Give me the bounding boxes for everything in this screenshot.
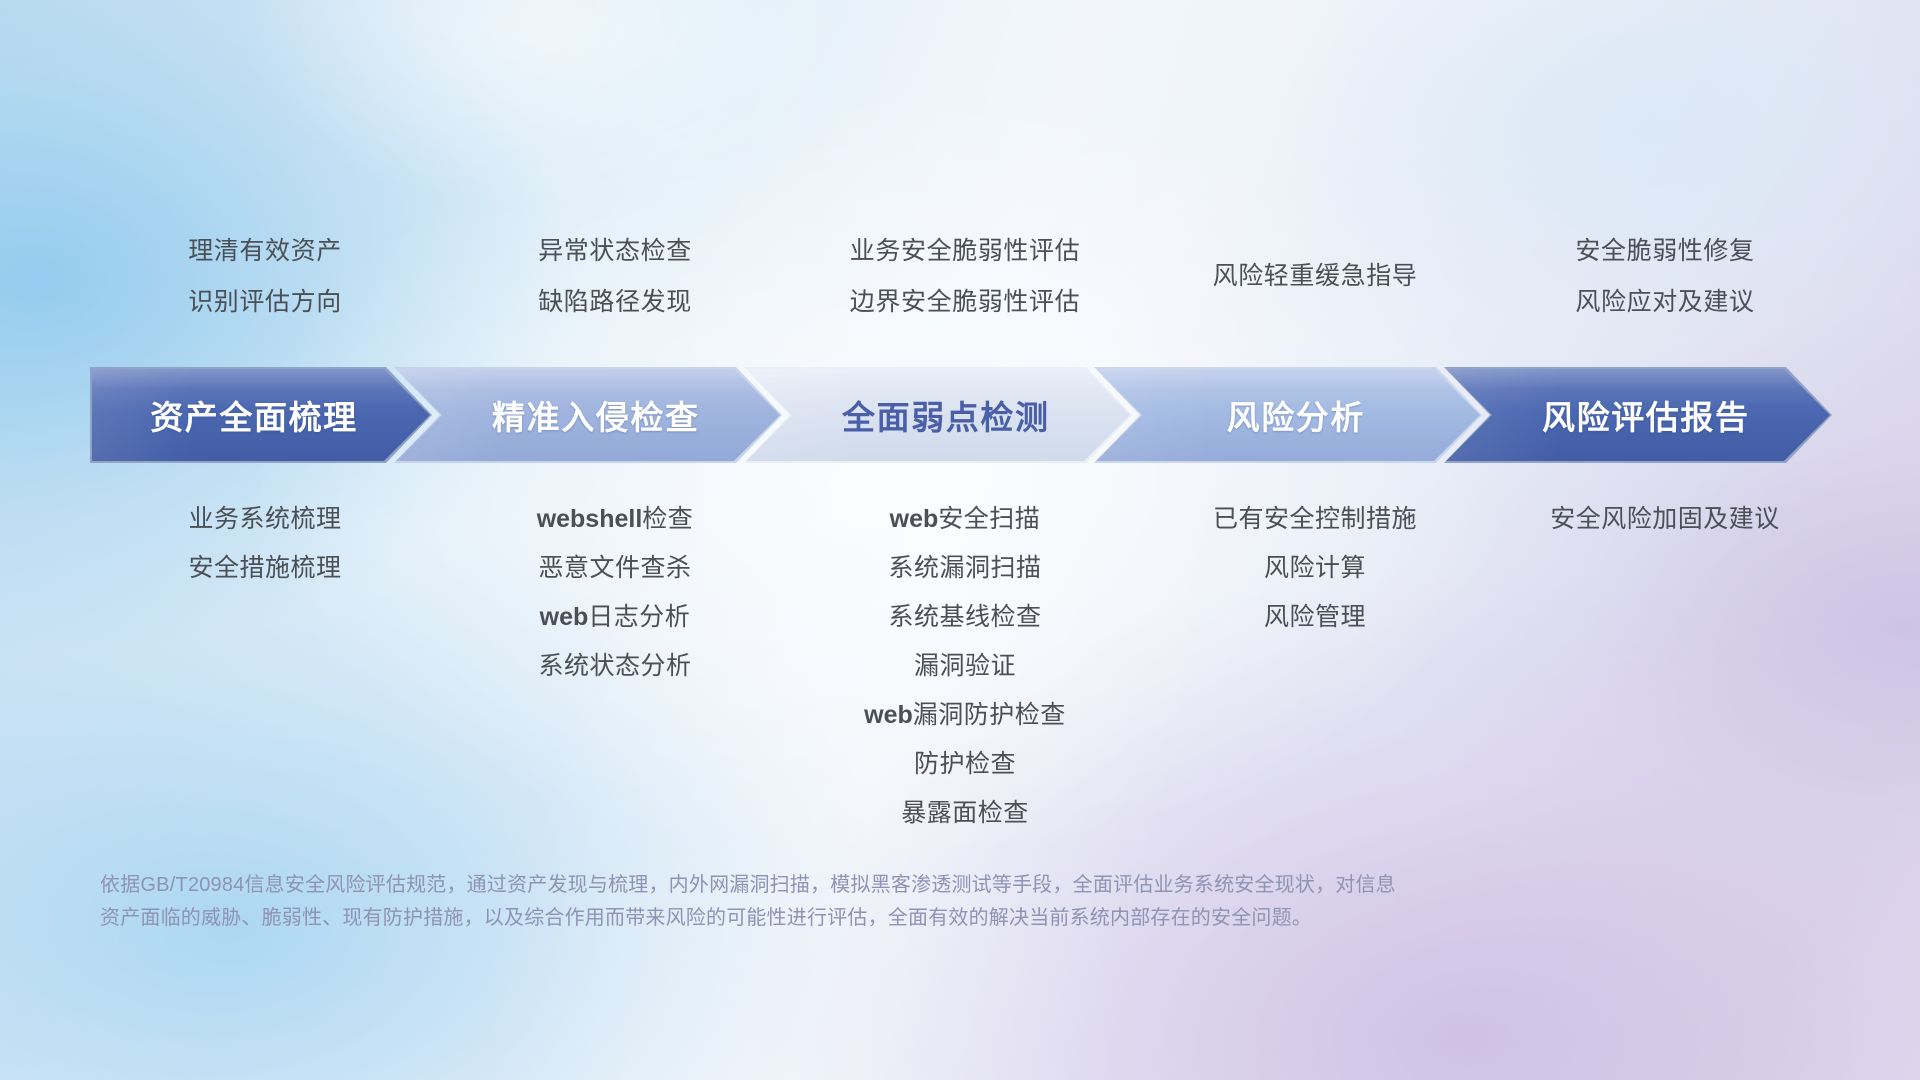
column-risk-report-top-list: 安全脆弱性修复风险应对及建议 bbox=[1365, 226, 1920, 328]
list-item-text: 风险计算 bbox=[1264, 554, 1366, 582]
list-item-text: 防护检查 bbox=[914, 750, 1016, 778]
list-item: 风险管理 bbox=[1015, 593, 1615, 642]
list-item-text: 漏洞验证 bbox=[914, 652, 1016, 680]
process-step-label: 精准入侵检查 bbox=[492, 391, 700, 439]
process-step-label: 风险分析 bbox=[1227, 391, 1365, 439]
list-item-text: 漏洞防护检查 bbox=[913, 701, 1066, 729]
list-item: 防护检查 bbox=[665, 740, 1265, 789]
process-step-label: 资产全面梳理 bbox=[150, 391, 358, 439]
process-step-label: 全面弱点检测 bbox=[842, 391, 1050, 439]
process-step-weakness-detection[interactable]: 全面弱点检测 bbox=[744, 367, 1132, 463]
process-step-risk-analysis[interactable]: 风险分析 bbox=[1094, 367, 1482, 463]
list-item-bold-prefix: webshell bbox=[537, 505, 643, 533]
footer-line-2: 资产面临的威胁、脆弱性、现有防护措施，以及综合作用而带来风险的可能性进行评估，全… bbox=[100, 902, 1620, 935]
list-item-bold-prefix: web bbox=[540, 603, 589, 631]
footer-line-1: 依据GB/T20984信息安全风险评估规范，通过资产发现与梳理，内外网漏洞扫描，… bbox=[100, 869, 1620, 902]
list-item: 风险计算 bbox=[1015, 544, 1615, 593]
list-item: 漏洞验证 bbox=[665, 642, 1265, 691]
list-item-bold-prefix: web bbox=[890, 505, 939, 533]
list-item-text: 暴露面检查 bbox=[901, 799, 1029, 827]
list-item: web漏洞防护检查 bbox=[665, 691, 1265, 740]
process-chevron-band: 资产全面梳理精准入侵检查全面弱点检测风险分析风险评估报告 bbox=[90, 367, 1840, 463]
process-step-risk-report[interactable]: 风险评估报告 bbox=[1444, 367, 1832, 463]
list-item: 风险应对及建议 bbox=[1365, 277, 1920, 328]
list-item: 安全风险加固及建议 bbox=[1365, 495, 1920, 544]
process-step-label: 风险评估报告 bbox=[1542, 391, 1750, 439]
list-item: 安全脆弱性修复 bbox=[1365, 226, 1920, 277]
process-diagram: 理清有效资产识别评估方向异常状态检查缺陷路径发现业务安全脆弱性评估边界安全脆弱性… bbox=[0, 0, 1920, 1080]
list-item-text: 安全风险加固及建议 bbox=[1550, 505, 1780, 533]
process-step-intrusion-check[interactable]: 精准入侵检查 bbox=[394, 367, 782, 463]
footer-description: 依据GB/T20984信息安全风险评估规范，通过资产发现与梳理，内外网漏洞扫描，… bbox=[100, 869, 1620, 935]
list-item-text: 风险管理 bbox=[1264, 603, 1366, 631]
process-step-asset-inventory[interactable]: 资产全面梳理 bbox=[90, 367, 432, 463]
list-item-bold-prefix: web bbox=[864, 701, 913, 729]
column-risk-report-bottom-list: 安全风险加固及建议 bbox=[1365, 495, 1920, 544]
list-item: 暴露面检查 bbox=[665, 789, 1265, 838]
